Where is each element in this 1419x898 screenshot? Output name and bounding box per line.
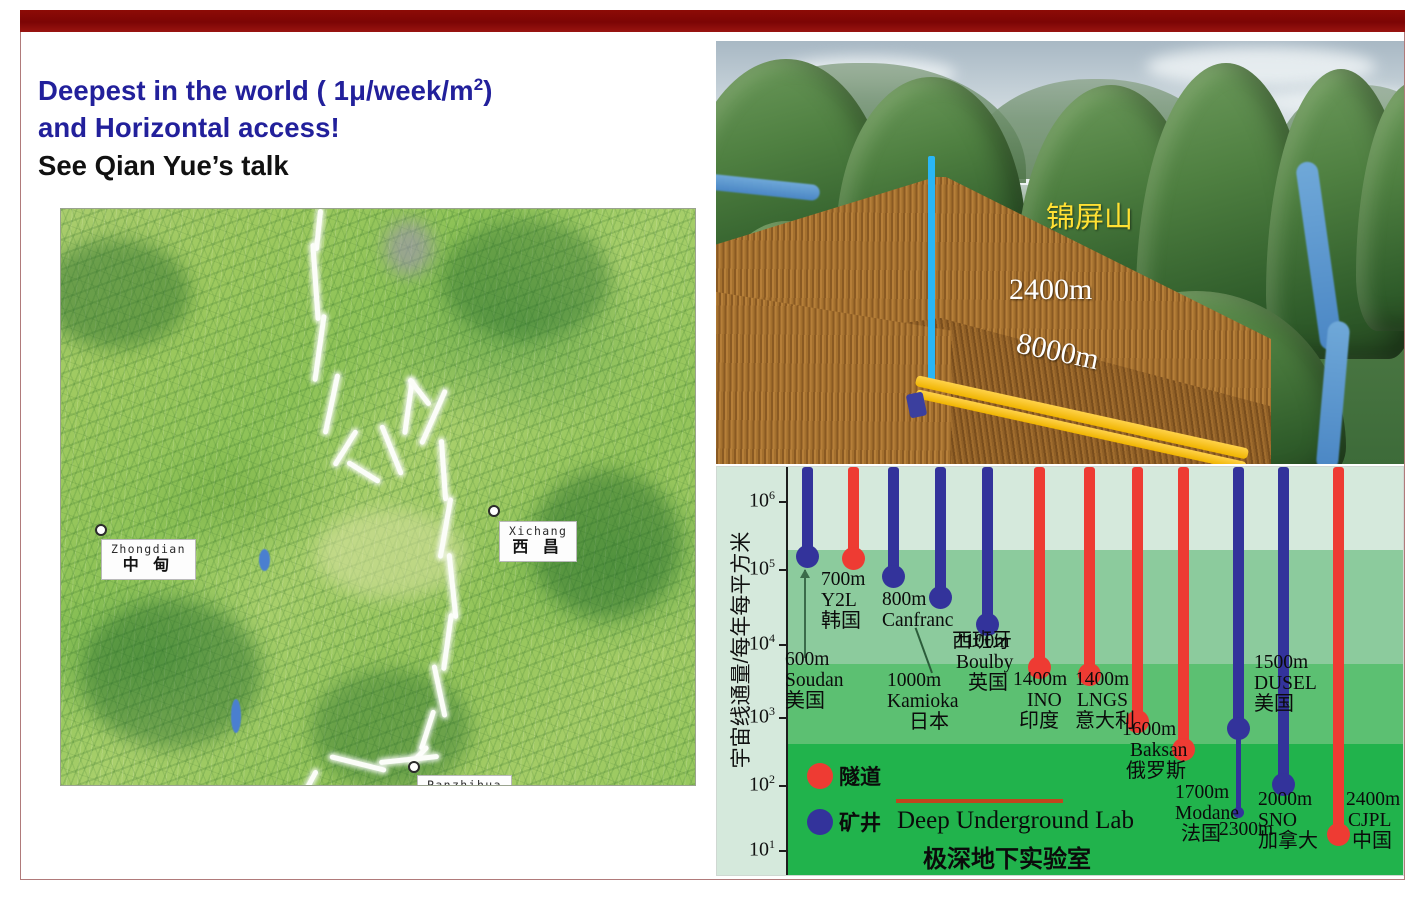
anno-kamioka: 1000m Kamioka 日本 xyxy=(887,670,958,733)
anno-country: 美国 xyxy=(785,691,844,712)
chart-band-2 xyxy=(717,550,1403,664)
bar-lngs xyxy=(1084,467,1095,675)
bar-modane xyxy=(1178,467,1189,750)
soudan-up-arrow xyxy=(804,570,806,658)
city-marker-xichang[interactable] xyxy=(488,505,500,517)
legend-label-tunnel: 隧道 xyxy=(839,761,881,791)
bar-ino xyxy=(1034,467,1045,668)
anno-lab: Soudan xyxy=(785,670,844,691)
slide-root: Deepest in the world ( 1μ/week/m2) and H… xyxy=(0,0,1419,898)
anno-country: 中国 xyxy=(1346,831,1400,852)
knob-soudan xyxy=(796,545,819,568)
bar-cjpl xyxy=(1333,467,1344,835)
anno-y2l: 700m Y2L 韩国 xyxy=(821,569,865,632)
anno-depth: 600m xyxy=(785,649,844,670)
exp: 1 xyxy=(769,837,775,851)
legend-label-mine: 矿井 xyxy=(839,807,881,837)
anno-lab: Baksan xyxy=(1122,740,1187,761)
anno-lab: INO xyxy=(1013,690,1067,711)
knob-y2l xyxy=(842,547,865,570)
map-forest-patch xyxy=(441,219,611,339)
city-label-zhongdian: Zhongdian 中 甸 xyxy=(101,539,196,580)
y-tick xyxy=(779,644,788,646)
anno-lab: DUSEL xyxy=(1254,673,1317,694)
anno-country: 韩国 xyxy=(821,611,865,632)
anno-cjpl: 2400m CJPL 中国 xyxy=(1346,789,1400,852)
bar-y2l xyxy=(848,467,859,559)
headline-line-2: and Horizontal access! xyxy=(38,109,678,146)
anno-baksan: 1600m Baksan 俄罗斯 xyxy=(1122,719,1187,782)
city-name-en: Xichang xyxy=(509,525,567,538)
anno-boulby: 1100m Boulby 英国 xyxy=(956,631,1013,694)
anno-country: 加拿大 xyxy=(1258,831,1318,852)
slide-header-band xyxy=(20,10,1405,32)
bar-dusel xyxy=(1233,467,1244,729)
city-name-zh: 中 甸 xyxy=(111,556,186,575)
legend-dot-mine xyxy=(807,809,833,835)
anno-lab: LNGS xyxy=(1075,690,1135,711)
anno-depth: 800m xyxy=(882,589,1012,610)
bar-sno xyxy=(1278,467,1289,785)
y-tick-label-1e1: 101 xyxy=(729,837,775,862)
anno-lab: Boulby xyxy=(956,652,1013,673)
deep-lab-underline xyxy=(896,799,1063,803)
y-tick xyxy=(779,717,788,719)
headline-line-3: See Qian Yue’s talk xyxy=(38,146,678,186)
exp: 6 xyxy=(769,488,775,502)
anno-sno: 2000m SNO 加拿大 xyxy=(1258,789,1318,852)
city-marker-panzhihua[interactable] xyxy=(408,761,420,773)
anno-depth: 1100m xyxy=(956,631,1013,652)
headline-line-1-close: ) xyxy=(483,75,492,106)
anno-country: 美国 xyxy=(1254,694,1317,715)
anno-depth: 1600m xyxy=(1122,719,1187,740)
map-lake xyxy=(259,549,270,571)
deep-lab-title-zh: 极深地下实验室 xyxy=(923,839,1091,874)
anno-depth: 1500m xyxy=(1254,652,1317,673)
map-forest-patch xyxy=(311,669,471,786)
anno-dusel: 1500m DUSEL 美国 xyxy=(1254,652,1317,715)
anno-country: 英国 xyxy=(956,673,1013,694)
deep-lab-title-en: Deep Underground Lab xyxy=(897,807,1134,835)
headline-line-1: Deepest in the world ( 1μ/week/m2) xyxy=(38,66,678,109)
anno-depth: 2400m xyxy=(1346,789,1400,810)
map-lake xyxy=(231,699,241,733)
city-name-en: Zhongdian xyxy=(111,543,186,556)
anno-lab: Kamioka xyxy=(887,691,958,712)
bar-kamioka xyxy=(935,467,946,598)
y-tick xyxy=(779,501,788,503)
anno-lab: CJPL xyxy=(1346,810,1400,831)
anno-country: 俄罗斯 xyxy=(1122,761,1187,782)
headline-line-1-text: Deepest in the world ( 1μ/week/m xyxy=(38,75,474,106)
anno-country: 印度 xyxy=(1013,711,1067,732)
anno-depth: 1700m xyxy=(1175,782,1239,803)
topographic-map: Zhongdian 中 甸 Xichang 西 昌 Panzhihua 攀枝花 xyxy=(60,208,696,786)
anno-depth: 2000m xyxy=(1258,789,1318,810)
cosmic-ray-flux-chart: 106 105 104 103 102 101 宇宙线通量/每年每平方米 xyxy=(716,466,1404,876)
exp: 5 xyxy=(769,556,775,570)
city-name-zh: 西 昌 xyxy=(509,538,567,557)
bar-canfranc xyxy=(888,467,899,577)
mountain-cutaway-illustration: 锦屏山 2400m 8000m xyxy=(716,41,1404,464)
exp: 2 xyxy=(769,772,775,786)
anno-depth: 1400m xyxy=(1013,669,1067,690)
y-tick xyxy=(779,850,788,852)
headline-block: Deepest in the world ( 1μ/week/m2) and H… xyxy=(38,66,678,186)
anno-depth: 1000m xyxy=(887,670,958,691)
city-name-en: Panzhihua xyxy=(427,779,502,786)
knob-canfranc xyxy=(882,565,905,588)
anno-lab: Y2L xyxy=(821,590,865,611)
y-tick xyxy=(779,785,788,787)
map-urban-patch xyxy=(386,221,432,275)
anno-depth: 1400m xyxy=(1075,669,1135,690)
bar-soudan xyxy=(802,467,813,557)
vertical-shaft xyxy=(928,156,935,381)
mountain-name-label: 锦屏山 xyxy=(1046,194,1133,236)
anno-country: 日本 xyxy=(887,712,958,733)
city-label-xichang: Xichang 西 昌 xyxy=(499,521,577,562)
exp: 4 xyxy=(769,631,775,645)
city-label-panzhihua: Panzhihua 攀枝花 xyxy=(417,775,512,786)
y-tick xyxy=(779,569,788,571)
anno-lab: SNO xyxy=(1258,810,1318,831)
city-marker-zhongdian[interactable] xyxy=(95,524,107,536)
headline-superscript: 2 xyxy=(474,75,484,94)
chart-band-1 xyxy=(717,467,1403,550)
anno-ino: 1400m INO 印度 xyxy=(1013,669,1067,732)
exp: 3 xyxy=(769,704,775,718)
anno-soudan: 600m Soudan 美国 xyxy=(785,649,844,712)
anno-lab: Canfranc xyxy=(882,610,1012,631)
depth-label: 2400m xyxy=(1009,273,1092,307)
anno-depth: 700m xyxy=(821,569,865,590)
legend-dot-tunnel xyxy=(807,763,833,789)
y-axis-title: 宇宙线通量/每年每平方米 xyxy=(725,495,755,805)
